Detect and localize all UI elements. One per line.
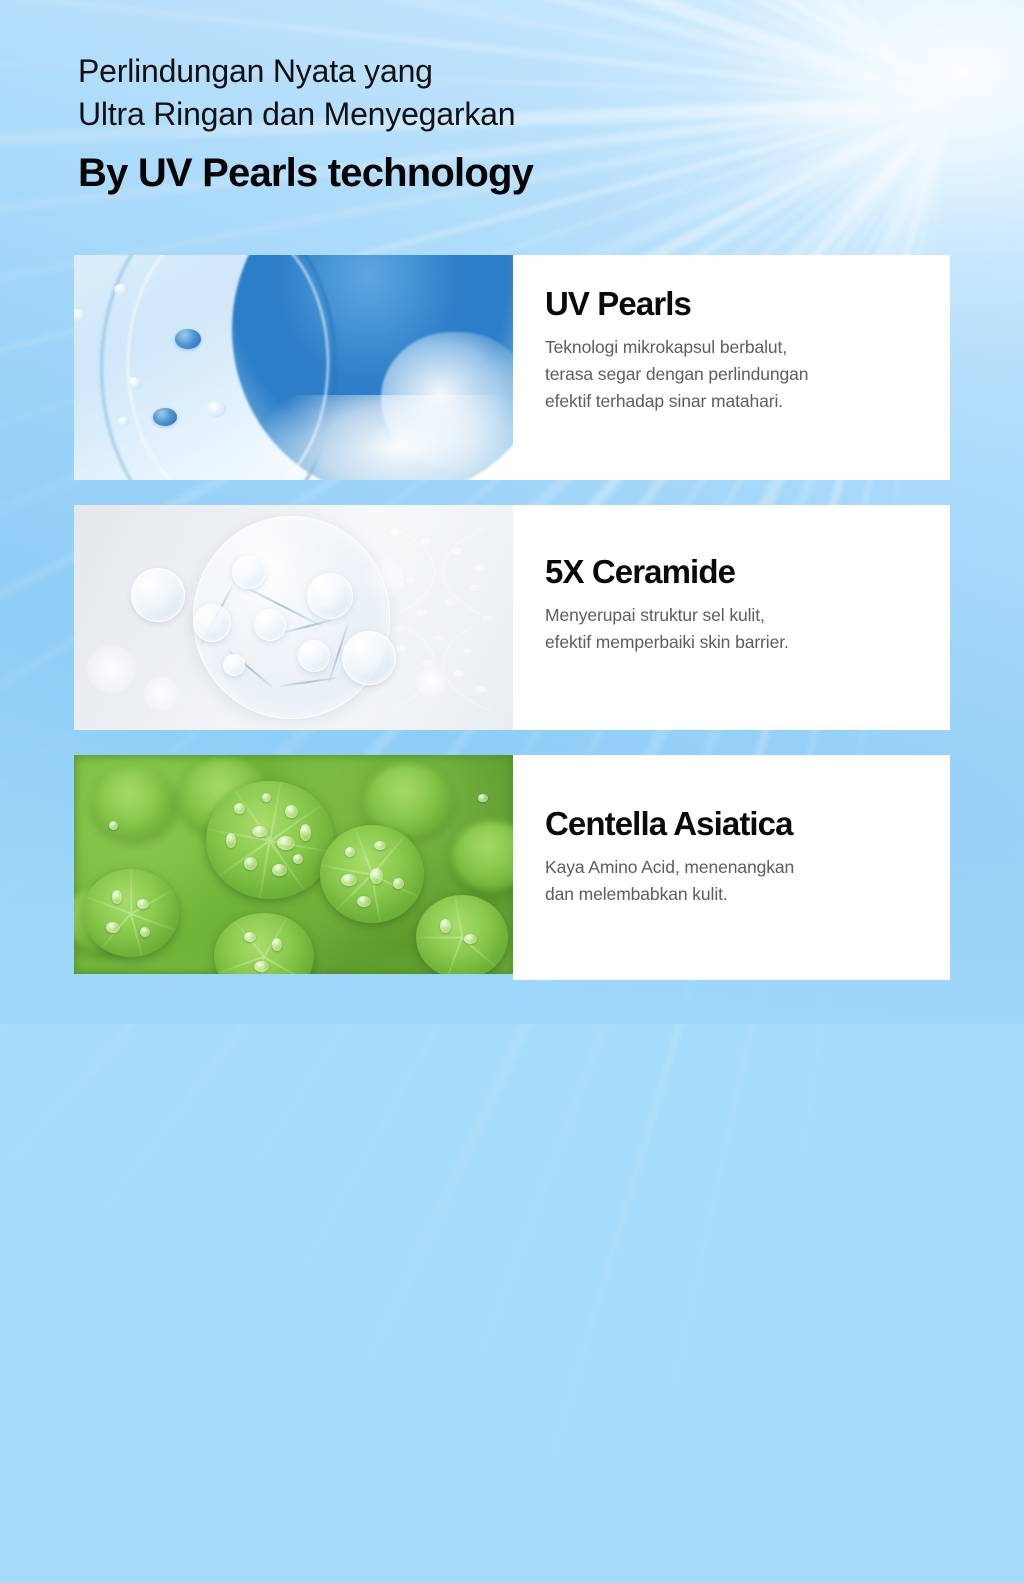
molecule-atom (298, 640, 330, 672)
feature-card-body: UV Pearls Teknologi mikrokapsul berbalut… (513, 255, 950, 480)
feature-description: Teknologi mikrokapsul berbalut, terasa s… (545, 334, 920, 415)
feature-card-uv-pearls[interactable]: UV Pearls Teknologi mikrokapsul berbalut… (74, 255, 950, 480)
page-title: By UV Pearls technology (78, 148, 958, 198)
water-droplet (118, 417, 129, 426)
water-droplet (374, 841, 386, 850)
water-droplet (137, 899, 149, 909)
water-droplet (153, 408, 177, 426)
water-droplet (357, 896, 371, 907)
feature-title: 5X Ceramide (545, 553, 920, 591)
molecule-atom (254, 609, 286, 641)
leaf-shape (92, 768, 176, 840)
water-droplet (244, 932, 256, 942)
bokeh-light (87, 645, 135, 693)
feature-title: Centella Asiatica (545, 805, 920, 843)
centella-leaves-image (74, 755, 513, 974)
leaf-shape (206, 781, 334, 899)
subheadline-line-2: Ultra Ringan dan Menyegarkan (78, 93, 958, 136)
water-droplet (127, 377, 142, 389)
water-droplet (252, 826, 268, 837)
feature-card-list: UV Pearls Teknologi mikrokapsul berbalut… (74, 255, 950, 1005)
molecule-atom (232, 555, 266, 589)
feature-card-5x-ceramide[interactable]: 5X Ceramide Menyerupai struktur sel kuli… (74, 505, 950, 730)
molecule-bubble-image (74, 505, 513, 730)
leaf-shape (416, 895, 508, 974)
molecule-atom (307, 573, 353, 619)
water-droplet (440, 919, 451, 933)
molecule-atom (131, 568, 185, 622)
water-droplet (393, 878, 404, 889)
leaf-veins (416, 895, 508, 974)
water-droplet (244, 857, 257, 870)
bokeh-light (144, 676, 178, 710)
water-droplet (345, 847, 355, 857)
feature-card-body: 5X Ceramide Menyerupai struktur sel kuli… (513, 505, 950, 730)
water-droplet (114, 284, 128, 295)
molecule-atom (223, 654, 245, 676)
water-droplet (285, 805, 298, 818)
water-droplet (272, 864, 287, 876)
feature-card-body: Centella Asiatica Kaya Amino Acid, menen… (513, 755, 950, 980)
water-droplet (106, 922, 120, 933)
header-block: Perlindungan Nyata yang Ultra Ringan dan… (78, 50, 958, 198)
water-droplet (341, 874, 357, 886)
blue-water-sphere-image (74, 255, 513, 480)
water-droplet (370, 868, 383, 884)
water-highlight (258, 395, 513, 481)
leaf-shape (320, 825, 424, 923)
leaf-shape (83, 869, 179, 957)
feature-description: Kaya Amino Acid, menenangkan dan melemba… (545, 854, 920, 908)
molecule-atom (342, 631, 396, 685)
water-droplet (206, 401, 226, 417)
feature-title: UV Pearls (545, 285, 920, 323)
water-droplet (74, 309, 86, 322)
water-droplet (109, 821, 118, 830)
molecule-atom (193, 604, 231, 642)
water-droplet (277, 836, 295, 850)
water-droplet (262, 793, 271, 802)
subheadline-line-1: Perlindungan Nyata yang (78, 50, 958, 93)
feature-description: Menyerupai struktur sel kulit, efektif m… (545, 602, 920, 656)
water-droplet (234, 803, 245, 814)
feature-card-centella-asiatica[interactable]: Centella Asiatica Kaya Amino Acid, menen… (74, 755, 950, 980)
leaf-veins (83, 869, 179, 957)
water-droplet (464, 934, 477, 944)
water-droplet (112, 890, 122, 904)
